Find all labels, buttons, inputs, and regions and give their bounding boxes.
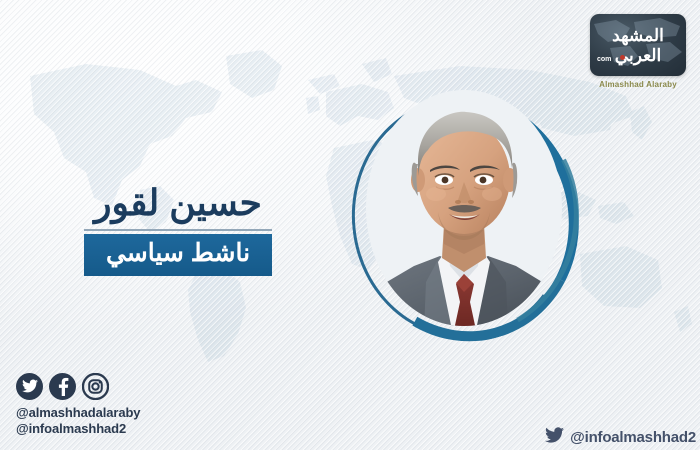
social-block: @almashhadalaraby @infoalmashhad2 xyxy=(16,373,140,438)
social-handle-primary[interactable]: @almashhadalaraby xyxy=(16,405,140,421)
logo-latin-name: Almashhad Alaraby xyxy=(590,80,686,89)
name-underline xyxy=(84,229,272,231)
logo-box: المشهد العربي com xyxy=(590,14,686,76)
facebook-icon[interactable] xyxy=(49,373,76,400)
portrait-photo xyxy=(366,90,562,330)
twitter-bird-icon xyxy=(545,427,564,448)
social-handle-secondary[interactable]: @infoalmashhad2 xyxy=(16,421,140,437)
watermark-handle-text: @infoalmashhad2 xyxy=(570,429,696,446)
logo-arabic-line1: المشهد xyxy=(590,27,686,44)
person-name: حسين لقور xyxy=(58,182,298,223)
bottom-white-strip xyxy=(0,450,700,459)
logo-red-dot-icon xyxy=(620,55,625,60)
logo-dotcom-text: com xyxy=(597,56,611,63)
instagram-icon[interactable] xyxy=(82,373,109,400)
portrait-group xyxy=(336,84,598,352)
channel-logo[interactable]: المشهد العربي com Almashhad Alaraby xyxy=(590,14,686,89)
graphic-canvas: حسين لقور ناشط سياسي المشهد العربي xyxy=(0,0,700,459)
role-banner: ناشط سياسي xyxy=(84,234,272,276)
twitter-icon[interactable] xyxy=(16,373,43,400)
name-block: حسين لقور ناشط سياسي xyxy=(58,182,298,276)
social-icon-row xyxy=(16,373,140,400)
watermark-twitter-handle: @infoalmashhad2 xyxy=(545,427,696,448)
